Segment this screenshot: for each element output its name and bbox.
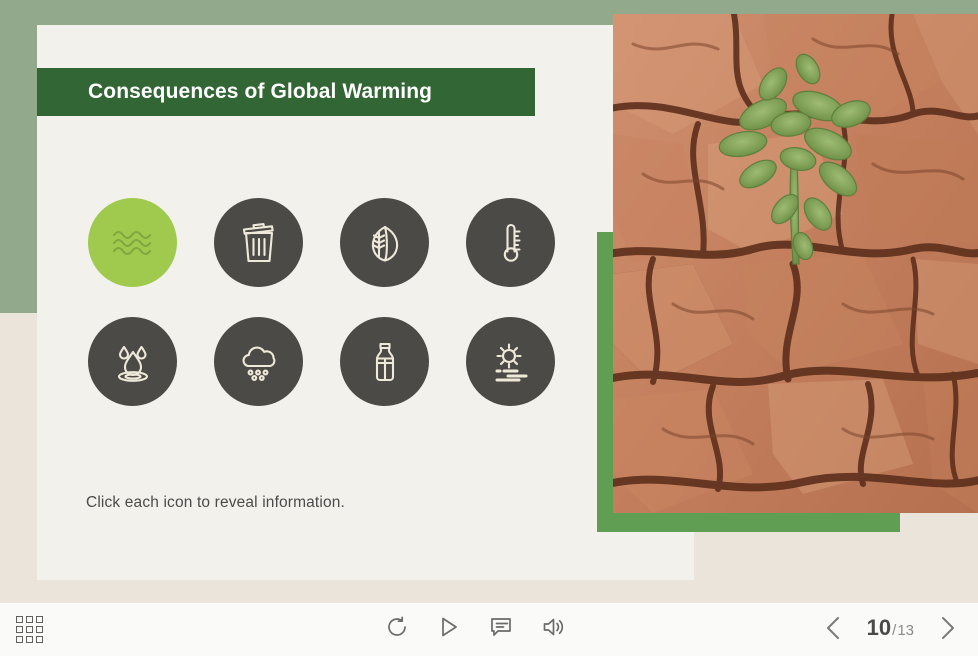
chevron-right-icon bbox=[934, 614, 960, 642]
cloud-hail-icon-button[interactable] bbox=[214, 317, 303, 406]
replay-button[interactable] bbox=[385, 615, 409, 639]
water-drop-icon bbox=[106, 335, 160, 389]
prev-slide-button[interactable] bbox=[821, 614, 847, 642]
notes-button[interactable] bbox=[489, 615, 513, 639]
playback-controls bbox=[385, 615, 565, 639]
icon-row-1 bbox=[88, 198, 555, 287]
water-drop-icon-button[interactable] bbox=[88, 317, 177, 406]
volume-button[interactable] bbox=[541, 615, 565, 639]
sun-heat-icon-button[interactable] bbox=[466, 317, 555, 406]
play-button[interactable] bbox=[437, 615, 461, 639]
icon-row-2 bbox=[88, 317, 555, 406]
page-separator: / bbox=[892, 622, 896, 639]
waves-icon bbox=[106, 216, 160, 270]
slide-menu-button[interactable] bbox=[16, 616, 43, 643]
icon-grid bbox=[88, 198, 555, 436]
page-total: 13 bbox=[897, 622, 914, 639]
page-title: Consequences of Global Warming bbox=[37, 80, 432, 104]
leaves-icon bbox=[358, 216, 412, 270]
player-toolbar: 10 / 13 bbox=[0, 602, 978, 656]
page-indicator: 10 / 13 bbox=[867, 615, 914, 641]
trash-can-icon bbox=[232, 216, 286, 270]
volume-icon bbox=[541, 615, 565, 639]
plastic-bottle-icon bbox=[358, 335, 412, 389]
cracked-earth-photo bbox=[613, 14, 978, 513]
slide-canvas: Consequences of Global Warming bbox=[0, 0, 978, 602]
thermometer-icon-button[interactable] bbox=[466, 198, 555, 287]
play-icon bbox=[437, 615, 461, 639]
notes-icon bbox=[489, 615, 513, 639]
waves-icon-button[interactable] bbox=[88, 198, 177, 287]
navigation-controls: 10 / 13 bbox=[821, 614, 960, 642]
slide-grid-icon[interactable] bbox=[16, 616, 43, 643]
chevron-left-icon bbox=[821, 614, 847, 642]
replay-icon bbox=[385, 615, 409, 639]
leaves-icon-button[interactable] bbox=[340, 198, 429, 287]
cloud-hail-icon bbox=[232, 335, 286, 389]
trash-can-icon-button[interactable] bbox=[214, 198, 303, 287]
next-slide-button[interactable] bbox=[934, 614, 960, 642]
thermometer-icon bbox=[484, 216, 538, 270]
plastic-bottle-icon-button[interactable] bbox=[340, 317, 429, 406]
slide-title-bar: Consequences of Global Warming bbox=[37, 68, 535, 116]
instruction-text: Click each icon to reveal information. bbox=[86, 494, 345, 512]
player-window: Consequences of Global Warming bbox=[0, 0, 978, 656]
page-current: 10 bbox=[867, 615, 891, 641]
sun-heat-icon bbox=[484, 335, 538, 389]
